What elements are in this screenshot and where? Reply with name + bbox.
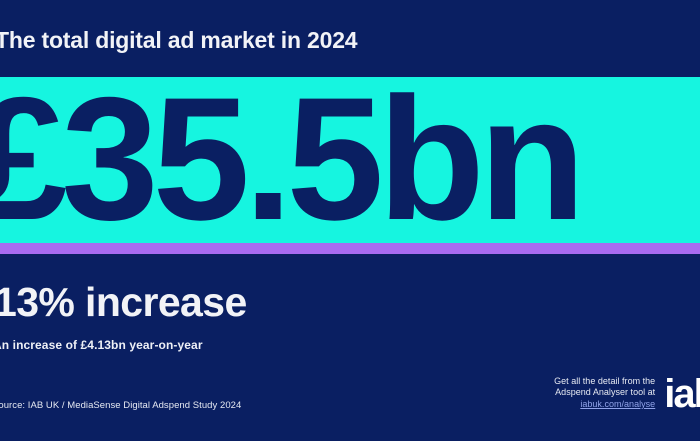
- change-detail-text: An increase of £4.13bn year-on-year: [0, 337, 700, 353]
- promo-line-1: Get all the detail from the: [554, 376, 655, 386]
- infographic-canvas: The total digital ad market in 2024 £35.…: [0, 0, 700, 441]
- promo-line-2: Adspend Analyser tool at: [555, 387, 655, 397]
- hero-band: £35.5bn: [0, 77, 700, 243]
- promo-copy: Get all the detail from the Adspend Anal…: [554, 376, 655, 411]
- accent-rule-divider: [0, 243, 700, 254]
- page-title: The total digital ad market in 2024: [0, 25, 700, 55]
- adspend-analyser-link[interactable]: iabuk.com/analyse: [554, 399, 655, 411]
- iab-logo: iab: [664, 374, 700, 414]
- promo-block: Get all the detail from the Adspend Anal…: [554, 370, 700, 416]
- hero-figure-value: £35.5bn: [0, 77, 700, 243]
- source-note: Source: IAB UK / MediaSense Digital Adsp…: [0, 399, 422, 412]
- change-figure: 13% increase: [0, 278, 700, 326]
